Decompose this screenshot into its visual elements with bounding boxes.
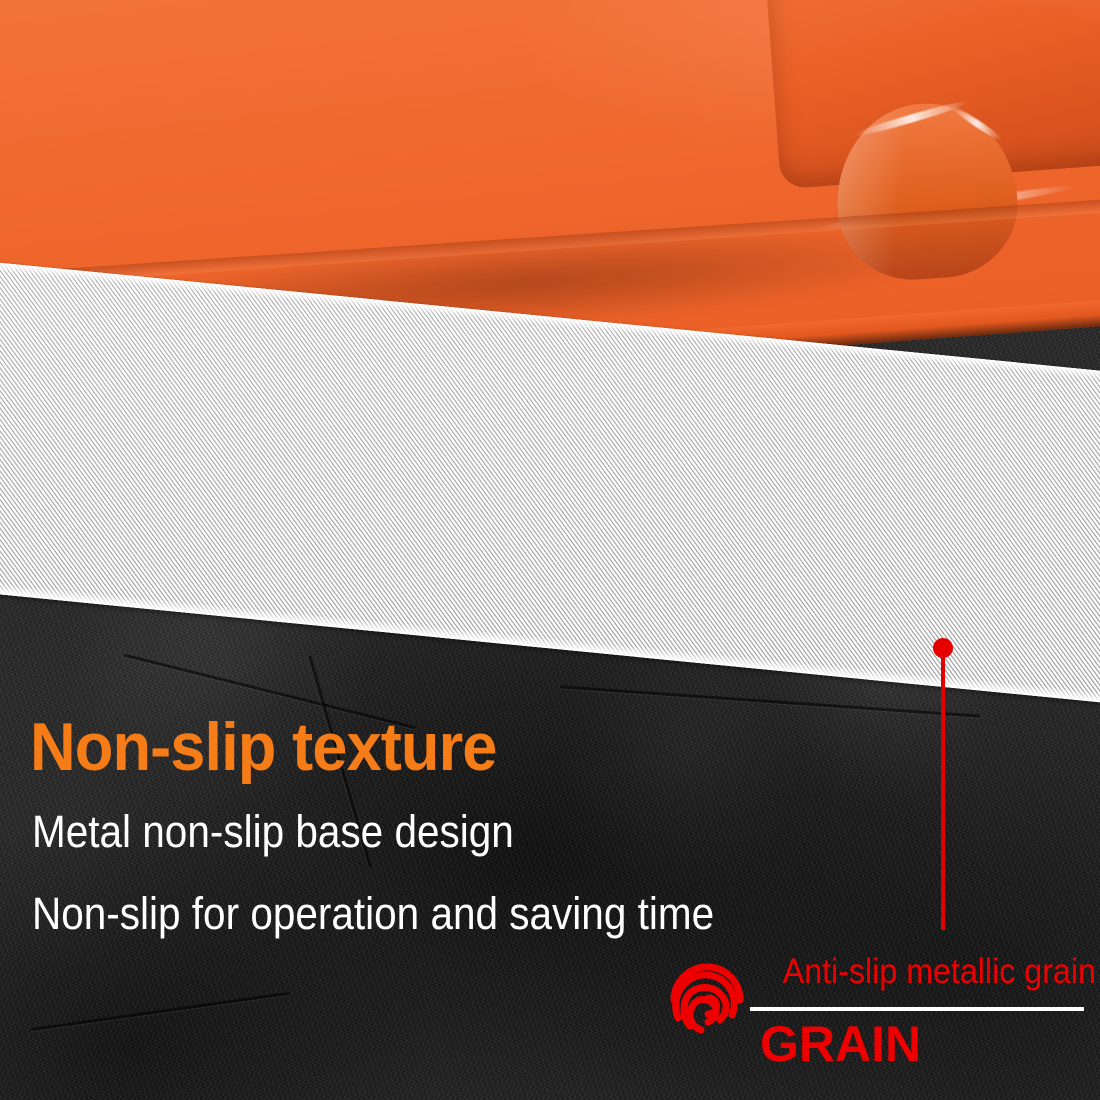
badge-keyword: GRAIN <box>760 1015 921 1073</box>
callout-anchor-dot <box>933 638 953 658</box>
badge-caption: Anti-slip metallic grain <box>783 952 1090 992</box>
feature-subline-1: Metal non-slip base design <box>32 806 514 858</box>
fingerprint-icon <box>668 960 746 1040</box>
feature-subline-2: Non-slip for operation and saving time <box>32 888 714 940</box>
product-feature-image: Non-slip texture Metal non-slip base des… <box>0 0 1100 1100</box>
badge-divider <box>750 1007 1084 1011</box>
grain-badge: Anti-slip metallic grain GRAIN <box>660 952 1090 1072</box>
callout-leader-line <box>941 648 945 930</box>
page-title: Non-slip texture <box>30 708 496 786</box>
